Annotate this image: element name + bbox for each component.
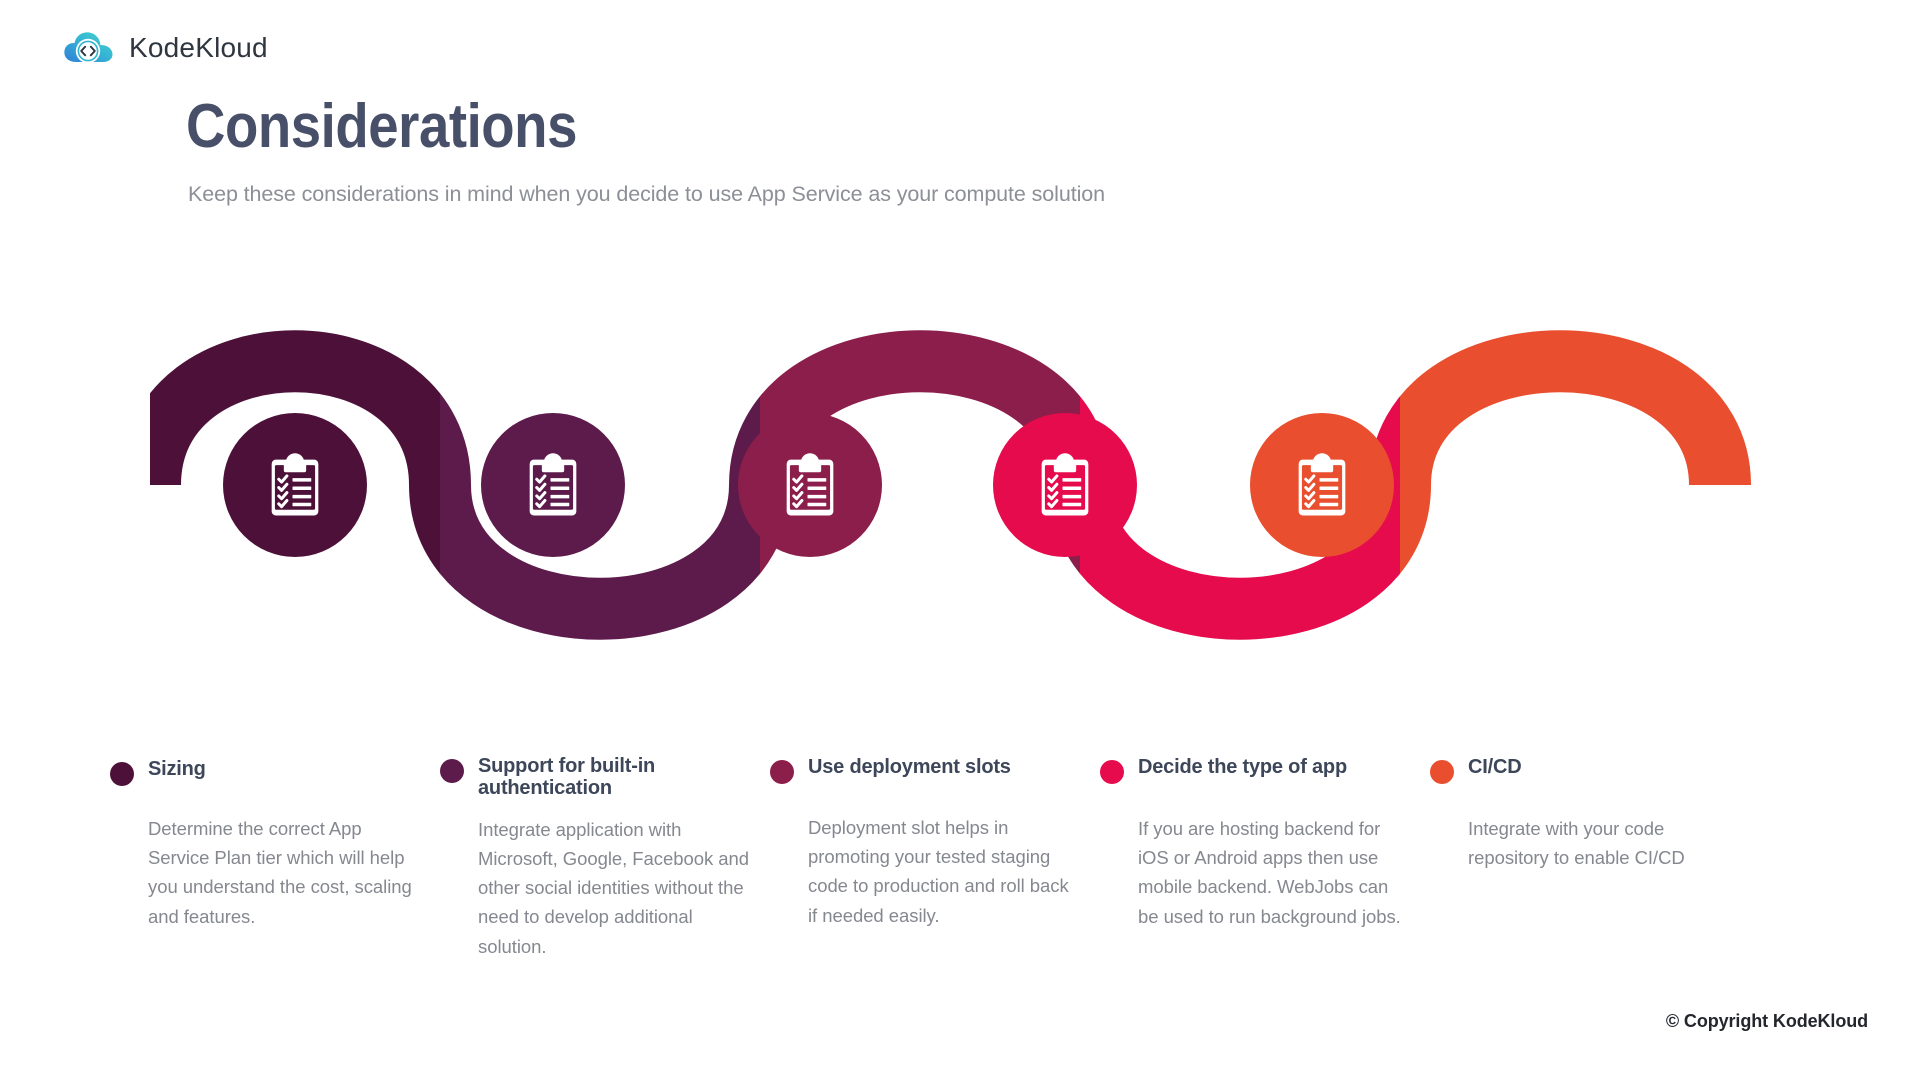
wave-node-3	[738, 413, 882, 557]
bullet-dot-icon-5	[1430, 760, 1454, 784]
bullet-dot-icon-2	[440, 759, 464, 783]
process-flow-graphic	[150, 330, 1770, 730]
consideration-column-1: Sizing Determine the correct App Service…	[110, 758, 440, 931]
consideration-body-5: Integrate with your code repository to e…	[1468, 814, 1742, 872]
consideration-title-5: CI/CD	[1468, 756, 1521, 778]
wave-node-1	[223, 413, 367, 557]
consideration-body-3: Deployment slot helps in promoting your …	[808, 813, 1082, 930]
consideration-title-3: Use deployment slots	[808, 756, 1011, 778]
consideration-column-4: Decide the type of app If you are hostin…	[1100, 758, 1430, 931]
consideration-body-2: Integrate application with Microsoft, Go…	[478, 815, 752, 961]
consideration-title-2: Support for built-in authentication	[478, 755, 752, 800]
consideration-column-3: Use deployment slots Deployment slot hel…	[770, 758, 1100, 930]
considerations-columns: Sizing Determine the correct App Service…	[110, 758, 1870, 961]
consideration-body-1: Determine the correct App Service Plan t…	[148, 814, 422, 931]
consideration-header-2: Support for built-in authentication	[440, 755, 752, 800]
consideration-title-4: Decide the type of app	[1138, 756, 1347, 778]
consideration-title-1: Sizing	[148, 758, 206, 780]
page-subtitle: Keep these considerations in mind when y…	[188, 182, 1105, 207]
consideration-column-5: CI/CD Integrate with your code repositor…	[1430, 758, 1760, 872]
brand-name: KodeKloud	[129, 34, 268, 62]
wave-node-2	[481, 413, 625, 557]
cloud-code-icon	[62, 28, 116, 68]
bullet-dot-icon-4	[1100, 760, 1124, 784]
consideration-header-5: CI/CD	[1430, 756, 1742, 790]
wave-node-5	[1250, 413, 1394, 557]
consideration-header-1: Sizing	[110, 758, 422, 792]
consideration-body-4: If you are hosting backend for iOS or An…	[1138, 814, 1412, 931]
consideration-column-2: Support for built-in authentication Inte…	[440, 758, 770, 961]
consideration-header-3: Use deployment slots	[770, 756, 1082, 790]
brand-logo-group: KodeKloud	[62, 28, 268, 68]
wave-node-4	[993, 413, 1137, 557]
page-title: Considerations	[186, 96, 577, 158]
copyright-notice: © Copyright KodeKloud	[1666, 1011, 1868, 1032]
bullet-dot-icon-3	[770, 760, 794, 784]
consideration-header-4: Decide the type of app	[1100, 756, 1412, 790]
bullet-dot-icon-1	[110, 762, 134, 786]
